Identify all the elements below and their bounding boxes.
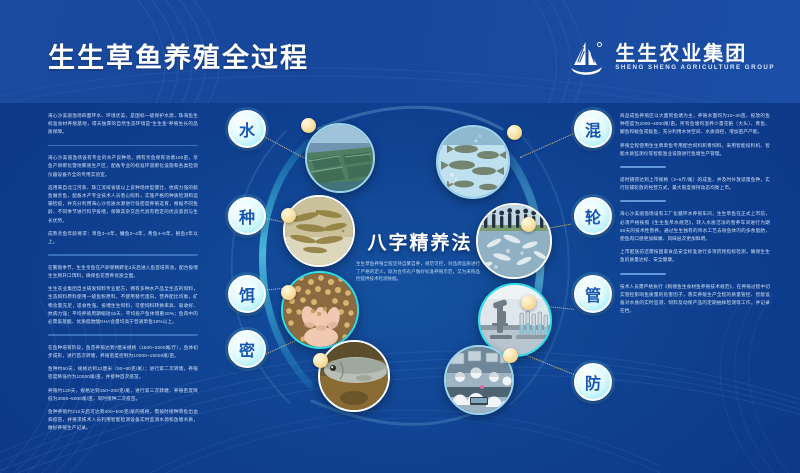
label-chip-bait[interactable]: 饵 xyxy=(228,275,266,313)
connector-node xyxy=(507,125,522,140)
label-text: 轮 xyxy=(585,204,601,228)
center-title: 八字精养法 xyxy=(355,228,485,255)
page-title: 生生草鱼养殖全过程 xyxy=(48,45,309,72)
sailboat-icon xyxy=(566,38,606,78)
mixed-fish-swimming-photo xyxy=(438,127,508,197)
photo-bubble-mix[interactable] xyxy=(436,125,510,199)
label-text: 管 xyxy=(585,282,601,306)
connector-node xyxy=(281,208,296,223)
connector-node xyxy=(503,348,518,363)
logo-name-en: SHENG SHENG AGRICULTURE GROUP xyxy=(615,65,775,71)
label-text: 种 xyxy=(239,204,255,228)
aerial-fish-ponds-photo xyxy=(307,125,373,191)
label-chip-water[interactable]: 水 xyxy=(228,110,266,148)
label-text: 饵 xyxy=(239,282,255,306)
logo-wordmark: 生生农业集团 SHENG SHENG AGRICULTURE GROUP xyxy=(615,44,775,71)
net-harvest-photo xyxy=(478,205,550,277)
label-chip-manage[interactable]: 管 xyxy=(574,275,612,313)
label-text: 混 xyxy=(585,117,601,141)
label-chip-prevention[interactable]: 防 xyxy=(574,363,612,401)
photo-bubble-bait[interactable] xyxy=(281,271,359,349)
label-text: 水 xyxy=(239,117,255,141)
label-chip-density[interactable]: 密 xyxy=(228,330,266,368)
photo-bubble-density[interactable] xyxy=(318,340,390,412)
grass-carp-photo xyxy=(320,342,388,410)
label-text: 密 xyxy=(239,337,255,361)
fish-fry-photo xyxy=(285,197,353,265)
feed-pellets-photo xyxy=(283,273,357,347)
center-description: 生生草鱼养殖全程坚持自繁自养，规范可控，对品牌品质进行了严格的定义，既为合作农户… xyxy=(356,260,480,283)
logo-name-cn: 生生农业集团 xyxy=(615,44,775,64)
label-chip-mix[interactable]: 混 xyxy=(574,110,612,148)
lab-technicians-photo xyxy=(446,347,512,413)
label-text: 防 xyxy=(585,370,601,394)
photo-bubble-rotation[interactable] xyxy=(476,203,552,279)
lab-microscope-photo xyxy=(480,285,550,355)
connector-node xyxy=(301,118,316,133)
connector-node xyxy=(521,295,536,310)
company-logo: 生生农业集团 SHENG SHENG AGRICULTURE GROUP xyxy=(566,38,775,78)
connector-node xyxy=(313,353,328,368)
photo-bubble-seed[interactable] xyxy=(283,195,355,267)
infographic-poster: 生生草鱼养殖全过程 生生农业集团 SHENG SHENG AGRICULTURE… xyxy=(0,0,800,473)
photo-bubble-water[interactable] xyxy=(305,123,375,193)
connector-node xyxy=(521,217,536,232)
connector-node xyxy=(281,285,296,300)
label-chip-seed[interactable]: 种 xyxy=(228,197,266,235)
label-chip-rotation[interactable]: 轮 xyxy=(574,197,612,235)
eight-character-diagram: 八字精养法 生生草鱼养殖全程坚持自繁自养，规范可控，对品牌品质进行了严格的定义，… xyxy=(0,95,800,440)
